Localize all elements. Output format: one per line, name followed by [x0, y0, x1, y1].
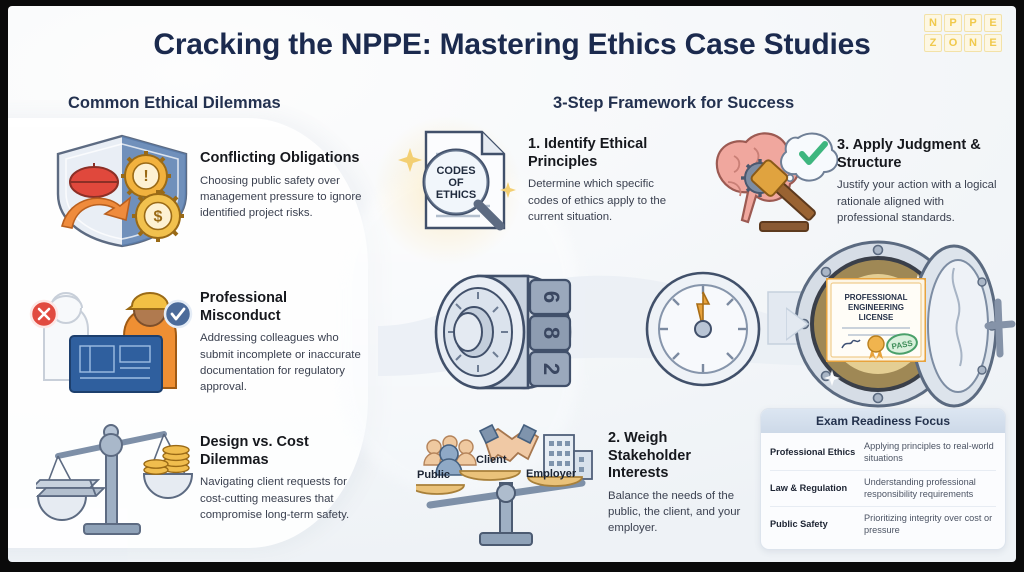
step-title: 2. Weigh Stakeholder Interests — [608, 430, 748, 483]
row-topic: Law & Regulation — [770, 483, 856, 495]
exam-readiness-rows: Professional Ethics Applying principles … — [761, 433, 1005, 542]
scale-label-employer: Employer — [526, 468, 576, 480]
dial-gauge-icon — [638, 264, 768, 394]
row-detail: Prioritizing integrity over cost or pres… — [864, 513, 996, 537]
svg-text:CODES: CODES — [436, 165, 475, 177]
dilemma-body: Navigating client requests for cost-cutt… — [200, 474, 370, 523]
magnifier-document-icon: CODES OF ETHICS — [398, 124, 518, 236]
svg-text:2: 2 — [539, 363, 564, 375]
page-title: Cracking the NPPE: Mastering Ethics Case… — [8, 28, 1016, 62]
dilemma-title: Conflicting Obligations — [200, 150, 362, 168]
step-title: 3. Apply Judgment & Structure — [837, 137, 997, 172]
svg-text:ETHICS: ETHICS — [436, 189, 476, 201]
section-heading-framework: 3-Step Framework for Success — [553, 94, 794, 113]
step-title: 1. Identify Ethical Principles — [528, 136, 668, 171]
row-detail: Understanding professional responsibilit… — [864, 477, 996, 501]
section-heading-dilemmas: Common Ethical Dilemmas — [68, 94, 281, 113]
step-block-1: 1. Identify Ethical Principles Determine… — [528, 136, 668, 225]
svg-text:6: 6 — [539, 291, 564, 303]
shield-hardhat-gears-icon: ! $ — [46, 130, 198, 250]
table-row: Public Safety Prioritizing integrity ove… — [770, 507, 996, 542]
panel-pointer — [849, 408, 867, 411]
step-body: Balance the needs of the public, the cli… — [608, 488, 748, 537]
svg-text:$: $ — [154, 209, 163, 226]
step-body: Justify your action with a logical ratio… — [837, 177, 997, 226]
engineers-blueprint-icon — [26, 278, 198, 396]
svg-text:OF: OF — [448, 177, 464, 189]
scale-label-client: Client — [476, 454, 507, 466]
table-row: Law & Regulation Understanding professio… — [770, 471, 996, 507]
vault-door — [912, 246, 1012, 406]
scale-label-public: Public — [417, 469, 450, 481]
svg-text:ENGINEERING: ENGINEERING — [848, 303, 904, 312]
step-block-3: 3. Apply Judgment & Structure Justify yo… — [837, 137, 997, 226]
scale-beam-coins-icon — [36, 418, 198, 540]
svg-text:LICENSE: LICENSE — [859, 313, 894, 322]
row-topic: Professional Ethics — [770, 447, 856, 459]
dilemma-title: Design vs. Cost Dilemmas — [200, 434, 370, 469]
image-frame: N P P E Z O N E Cracking the NPPE: Maste… — [0, 0, 1024, 572]
table-row: Professional Ethics Applying principles … — [770, 435, 996, 471]
svg-text:!: ! — [143, 168, 148, 185]
infographic-canvas: N P P E Z O N E Cracking the NPPE: Maste… — [8, 6, 1016, 562]
engineering-license-certificate: PROFESSIONAL ENGINEERING LICENSE PASS — [826, 278, 926, 362]
svg-text:PROFESSIONAL: PROFESSIONAL — [844, 293, 907, 302]
step-body: Determine which specific codes of ethics… — [528, 176, 668, 225]
svg-text:8: 8 — [539, 327, 564, 339]
step-block-2: 2. Weigh Stakeholder Interests Balance t… — [608, 430, 748, 537]
row-topic: Public Safety — [770, 519, 856, 531]
combination-lock-icon: 6 8 2 — [428, 258, 618, 408]
row-detail: Applying principles to real-world situat… — [864, 441, 996, 465]
dilemma-block-3: Design vs. Cost Dilemmas Navigating clie… — [200, 434, 370, 523]
exam-readiness-caption: Exam Readiness Focus — [761, 409, 1005, 433]
exam-readiness-panel: Exam Readiness Focus Professional Ethics… — [760, 408, 1006, 550]
brain-gavel-checkmark-icon — [698, 126, 838, 244]
balance-scale-stakeholders-icon — [416, 421, 596, 549]
